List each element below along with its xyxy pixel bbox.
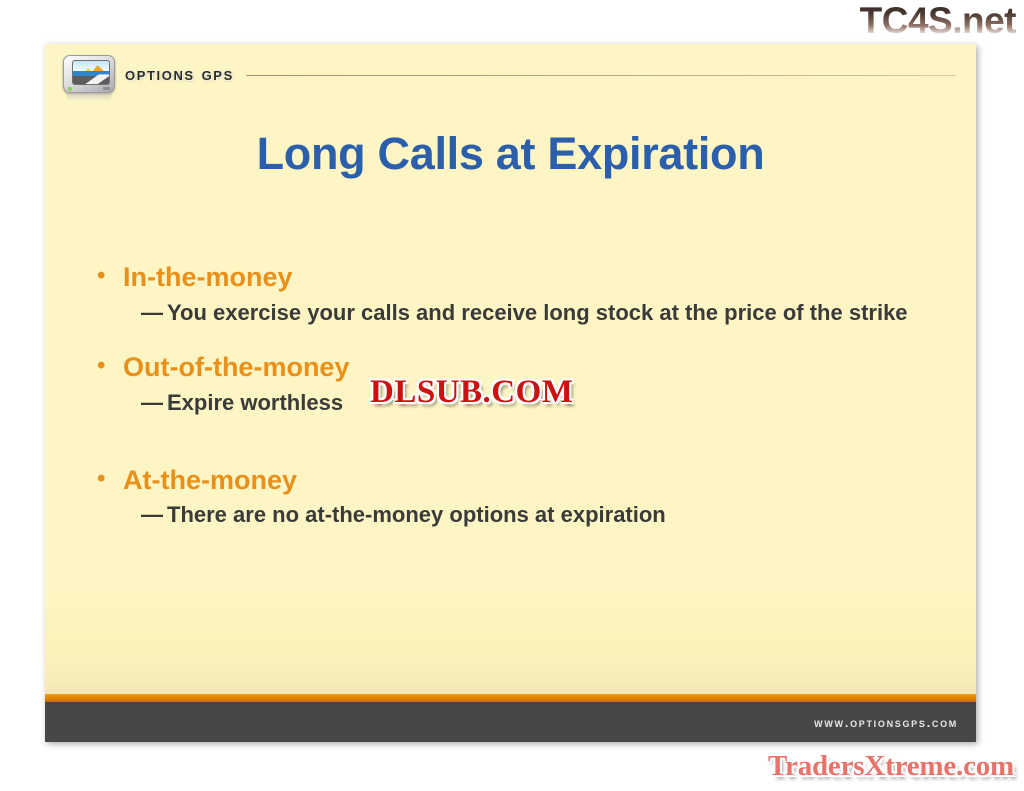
bullet-dot-icon: • <box>97 465 123 494</box>
bullet-dot-icon: • <box>97 352 123 381</box>
bullet-lead: • At-the-money <box>97 465 947 497</box>
tradersxtreme-brand-text: TradersXtreme.com <box>768 750 1014 783</box>
bullet-lead-label: Out-of-the-money <box>123 352 349 384</box>
bullet-lead-label: At-the-money <box>123 465 297 497</box>
sub-bullet: — You exercise your calls and receive lo… <box>141 300 947 326</box>
gps-device-led <box>68 87 72 91</box>
gps-device-screen <box>72 60 110 85</box>
bullet-dot-icon: • <box>97 262 123 291</box>
em-dash-icon: — <box>141 502 167 528</box>
bullet-lead: • In-the-money <box>97 262 947 294</box>
sub-bullet-label: You exercise your calls and receive long… <box>167 300 947 326</box>
page-title: Long Calls at Expiration <box>45 130 976 177</box>
footer-url-label: www.OptionsGPS.com <box>814 715 958 730</box>
header-divider <box>246 75 956 76</box>
gps-device-icon <box>63 55 115 95</box>
presentation-slide: Options GPS Long Calls at Expiration • I… <box>45 44 976 742</box>
slide-header: Options GPS <box>45 44 976 106</box>
bullet-block-at-the-money: • At-the-money — There are no at-the-mon… <box>97 465 947 529</box>
sub-bullet-label: There are no at-the-money options at exp… <box>167 502 947 528</box>
em-dash-icon: — <box>141 300 167 326</box>
footer-accent-bar <box>45 694 976 702</box>
slide-footer: www.OptionsGPS.com <box>45 702 976 742</box>
bullet-block-in-the-money: • In-the-money — You exercise your calls… <box>97 262 947 326</box>
tc4s-brand-text: TC4S.net <box>860 2 1016 39</box>
options-gps-wordmark: Options GPS <box>125 64 234 86</box>
em-dash-icon: — <box>141 390 167 416</box>
sub-bullet: — There are no at-the-money options at e… <box>141 502 947 528</box>
gps-device-slot <box>103 87 110 90</box>
screen-sky <box>73 61 109 72</box>
dlsub-watermark: DLSUB.COM <box>370 374 573 411</box>
bullet-lead-label: In-the-money <box>123 262 293 294</box>
gps-device-reflection <box>66 93 112 102</box>
